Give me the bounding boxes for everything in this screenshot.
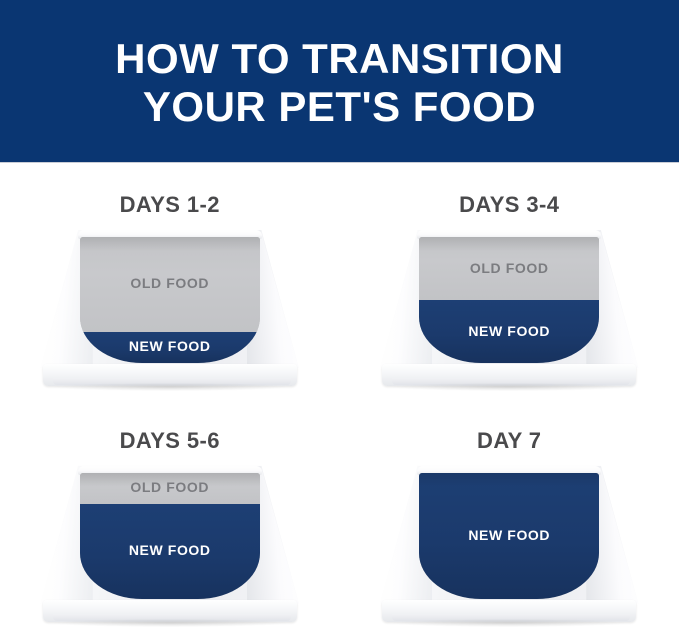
food-bowl: OLD FOOD NEW FOOD: [380, 230, 638, 386]
header-banner: HOW TO TRANSITION YOUR PET'S FOOD: [0, 0, 679, 162]
new-food-label: NEW FOOD: [80, 338, 260, 354]
new-food-label: NEW FOOD: [419, 527, 599, 543]
old-food-label: OLD FOOD: [80, 275, 260, 291]
bowl-shadow: [53, 383, 287, 391]
food-bowl: OLD FOOD NEW FOOD: [41, 466, 299, 622]
bowl-shadow: [392, 383, 626, 391]
panel-days-1-2: DAYS 1-2 OLD FOOD NEW FOOD: [0, 163, 340, 399]
infographic-page: HOW TO TRANSITION YOUR PET'S FOOD DAYS 1…: [0, 0, 679, 634]
header-title-line-2: YOUR PET'S FOOD: [143, 83, 536, 131]
panel-day-7: DAY 7 NEW FOOD: [340, 399, 679, 634]
bowl-cavity: NEW FOOD: [419, 473, 599, 599]
panel-title: DAYS 5-6: [120, 428, 220, 454]
old-food-label: OLD FOOD: [80, 479, 260, 495]
bowl-cavity: OLD FOOD NEW FOOD: [419, 237, 599, 363]
old-food-label: OLD FOOD: [419, 260, 599, 276]
bowl-shadow: [392, 619, 626, 627]
panel-days-3-4: DAYS 3-4 OLD FOOD NEW FOOD: [340, 163, 679, 399]
food-bowl: NEW FOOD: [380, 466, 638, 622]
bowl-grid: DAYS 1-2 OLD FOOD NEW FOOD: [0, 163, 679, 634]
panel-title: DAY 7: [477, 428, 541, 454]
new-food-label: NEW FOOD: [419, 323, 599, 339]
food-bowl: OLD FOOD NEW FOOD: [41, 230, 299, 386]
header-title-line-1: HOW TO TRANSITION: [115, 35, 564, 83]
panel-title: DAYS 3-4: [459, 192, 559, 218]
panel-days-5-6: DAYS 5-6 OLD FOOD NEW FOOD: [0, 399, 340, 634]
bowl-cavity: OLD FOOD NEW FOOD: [80, 237, 260, 363]
panel-title: DAYS 1-2: [120, 192, 220, 218]
new-food-label: NEW FOOD: [80, 542, 260, 558]
bowl-cavity: OLD FOOD NEW FOOD: [80, 473, 260, 599]
bowl-shadow: [53, 619, 287, 627]
